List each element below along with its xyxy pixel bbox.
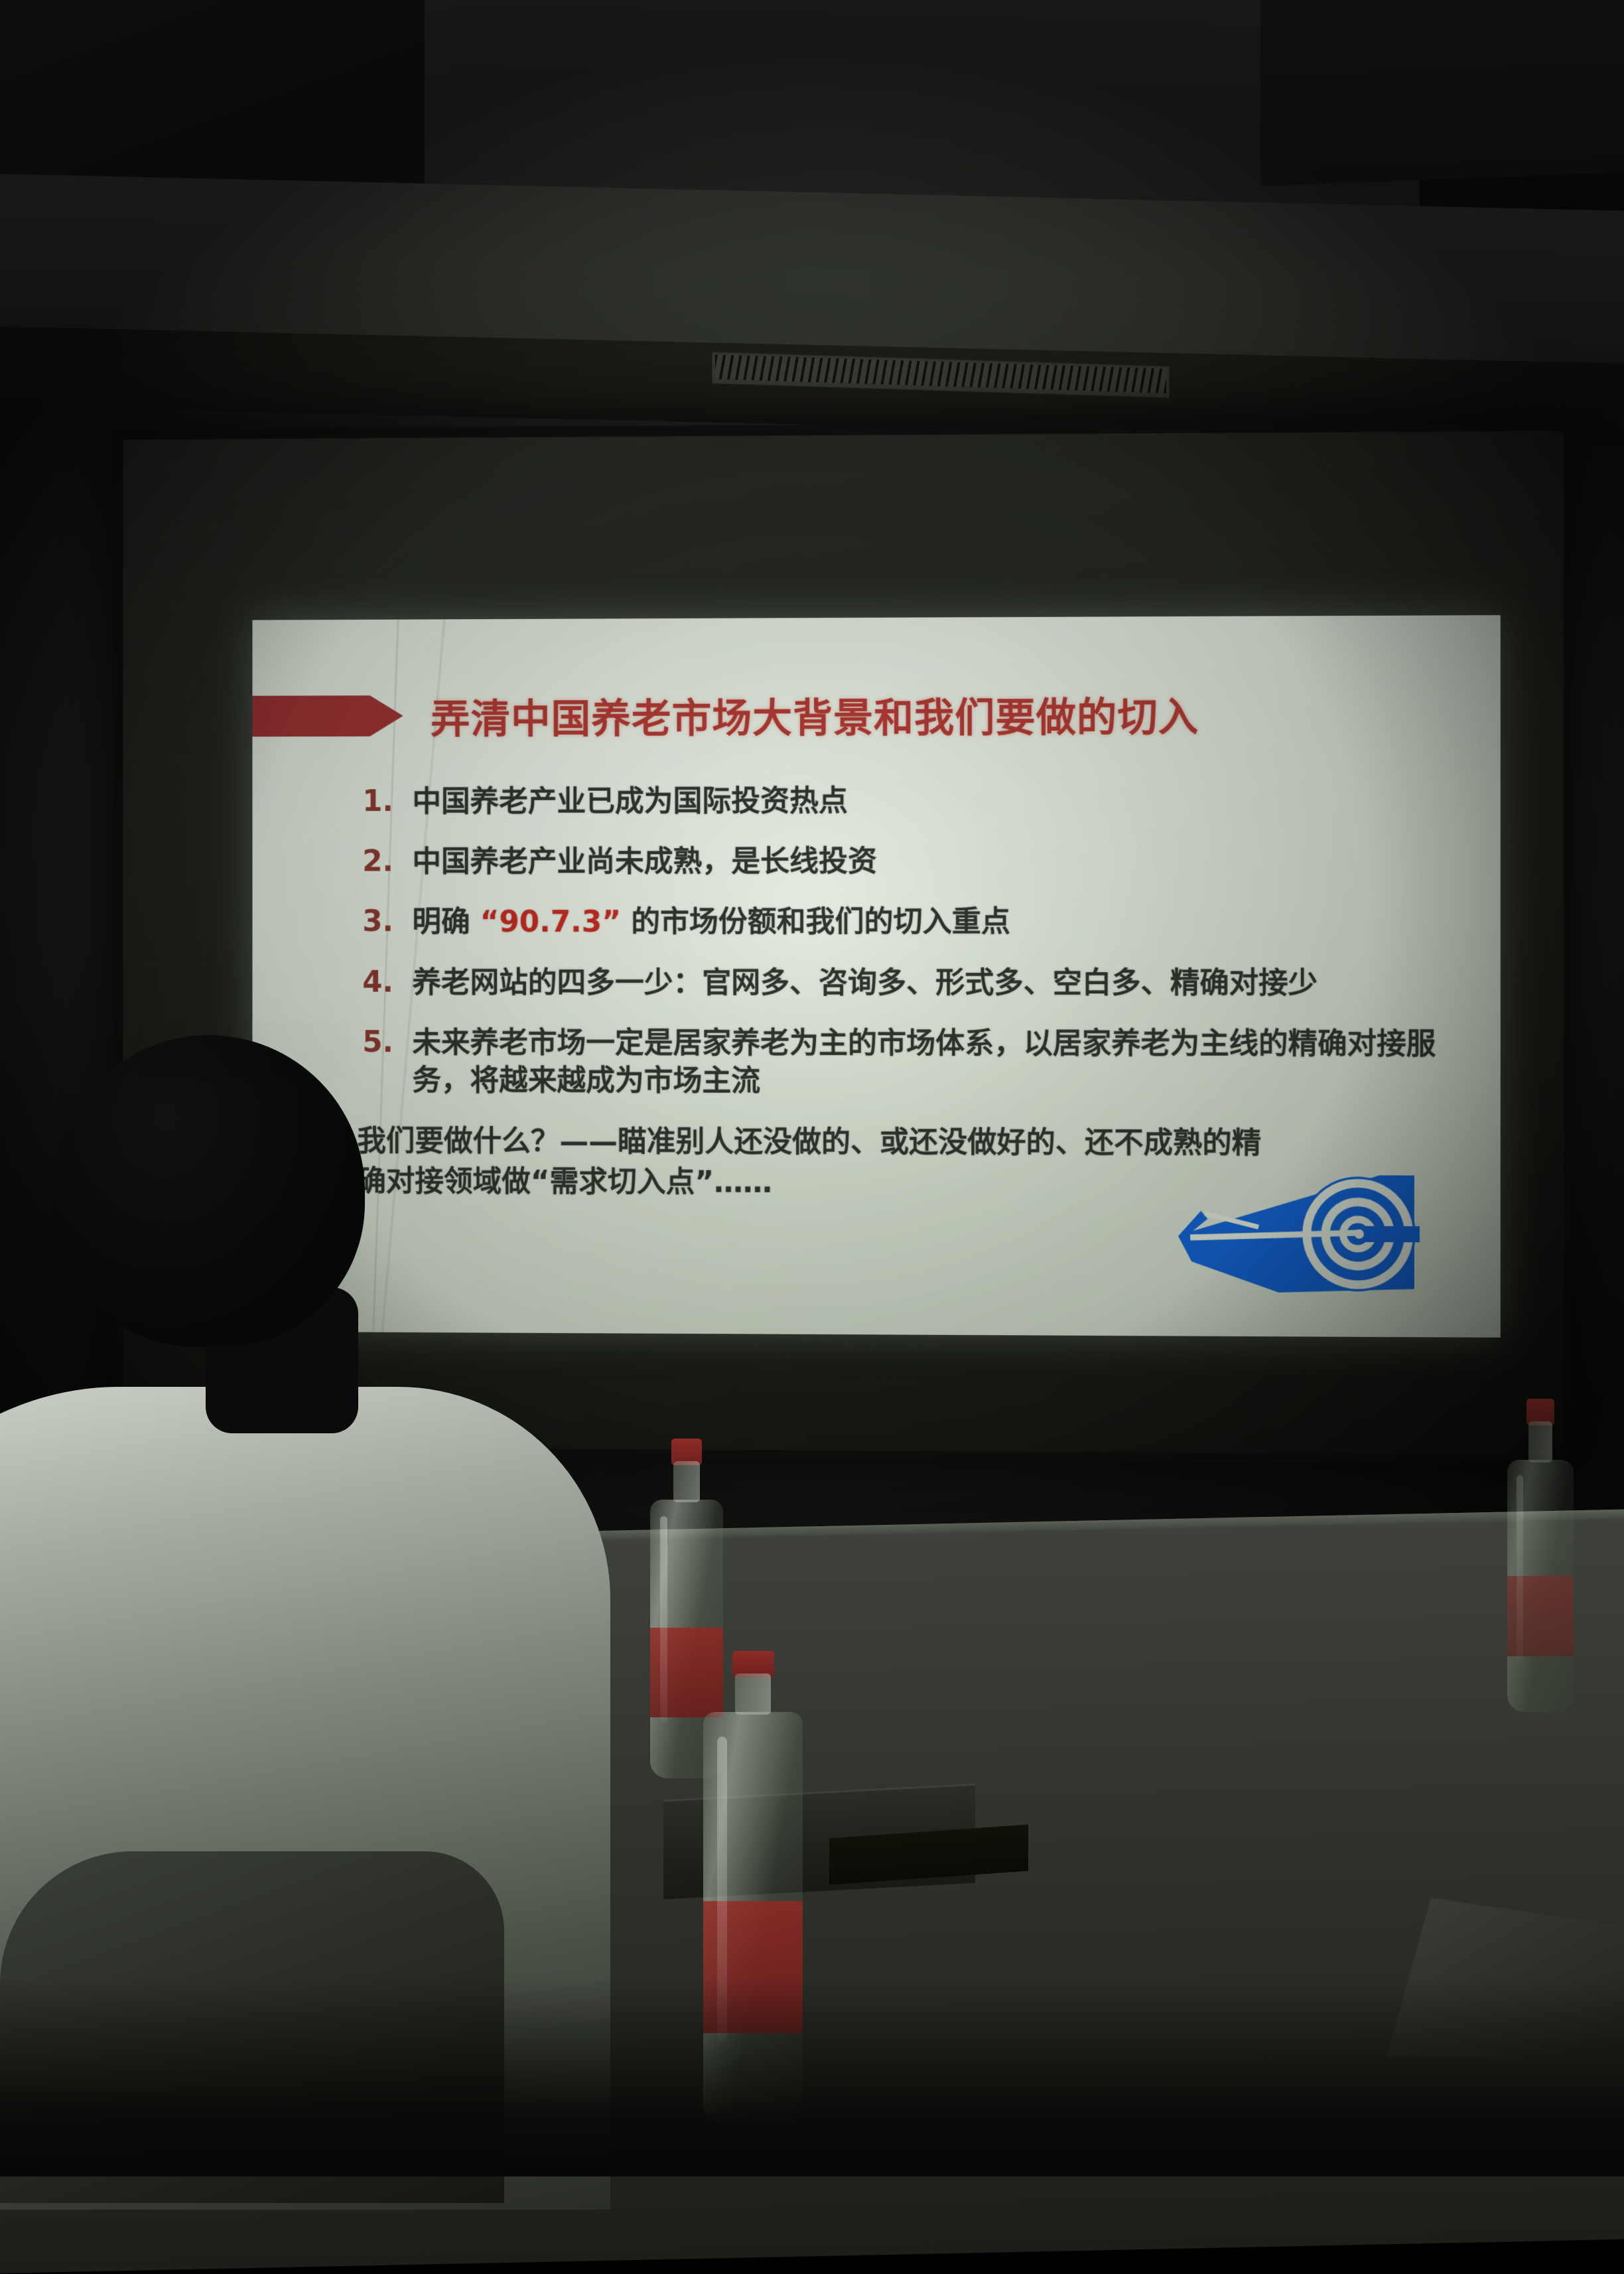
bottle-neck — [735, 1673, 771, 1715]
water-bottle-right — [1507, 1460, 1574, 1712]
bottle-neck — [1528, 1421, 1552, 1462]
bottle-neck — [673, 1461, 700, 1502]
person-hair — [139, 1021, 352, 1080]
bullet-number: 4. — [362, 963, 412, 1000]
ceiling-soffit-right — [1260, 0, 1624, 186]
bullet-text: 中国养老产业尚未成熟，是长线投资 — [412, 843, 877, 881]
arrow-through-bullseye-spiral-icon — [1178, 1161, 1420, 1302]
bullet-highlight-value: “90.7.3” — [480, 906, 621, 940]
right-arrow-banner-icon — [252, 695, 403, 737]
slide-title: 弄清中国养老市场大背景和我们要做的切入 — [431, 685, 1199, 745]
bottle-highlight — [1517, 1475, 1523, 1662]
bottle-highlight — [660, 1516, 667, 1723]
bullet-text: 明确 “90.7.3” 的市场份额和我们的切入重点 — [412, 903, 1010, 941]
conference-room-scene: 弄清中国养老市场大背景和我们要做的切入 1. 中国养老产业已成为国际投资热点 2… — [0, 0, 1624, 2166]
bullet-text: 中国养老产业已成为国际投资热点 — [412, 782, 848, 821]
bullet-item: 1. 中国养老产业已成为国际投资热点 — [362, 781, 1453, 821]
bullet-item: 3. 明确 “90.7.3” 的市场份额和我们的切入重点 — [362, 903, 1453, 942]
person-head — [53, 1035, 365, 1347]
bullet-number: 1. — [362, 783, 412, 819]
slide-title-row: 弄清中国养老市场大背景和我们要做的切入 — [252, 681, 1500, 748]
bullet-text: 养老网站的四多一少：官网多、咨询多、形式多、空白多、精确对接少 — [412, 963, 1318, 1002]
bullet-item: 4. 养老网站的四多一少：官网多、咨询多、形式多、空白多、精确对接少 — [362, 963, 1453, 1002]
bullet-item: 2. 中国养老产业尚未成熟，是长线投资 — [362, 842, 1453, 881]
foreground-shadow — [0, 1977, 1624, 2176]
bullet-number: 2. — [362, 843, 412, 880]
bullet-text-before: 明确 — [412, 906, 480, 940]
bullet-text-after: 的市场份额和我们的切入重点 — [621, 905, 1010, 939]
bullet-number: 3. — [362, 904, 412, 940]
